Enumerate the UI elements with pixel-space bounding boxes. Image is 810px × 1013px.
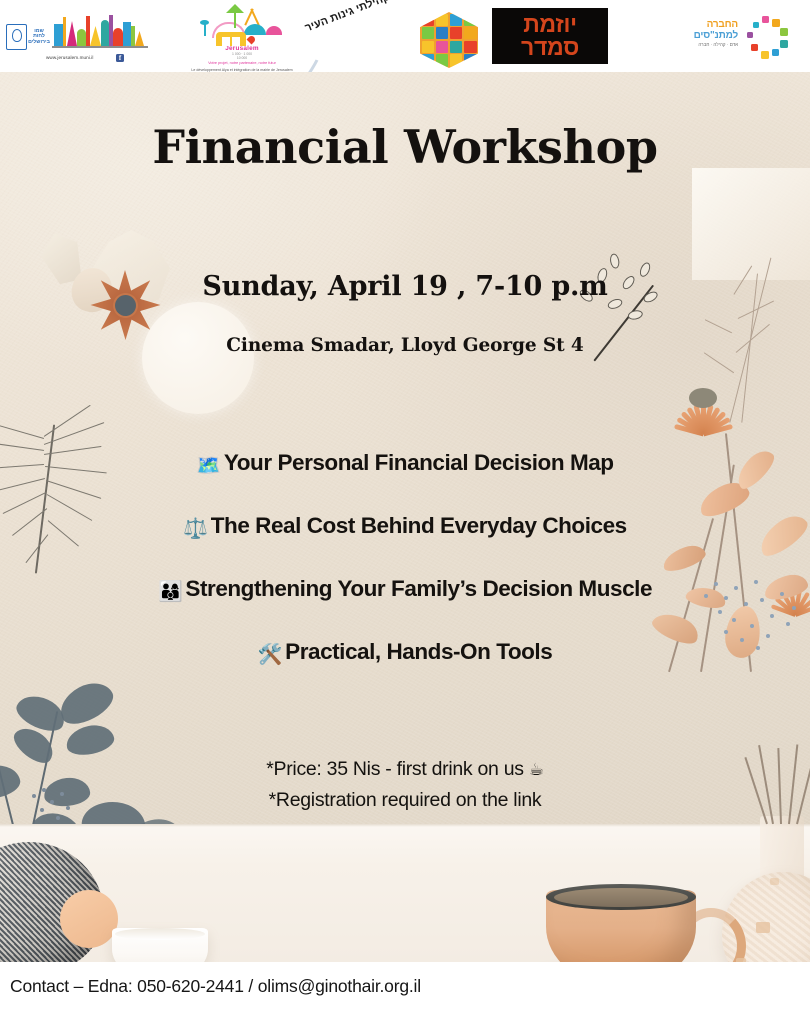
- poster-text-layer: Financial Workshop Sunday, April 19 , 7-…: [0, 72, 810, 962]
- yozmat-smadar-hebrew-label: יוזמתסמדר: [521, 13, 579, 59]
- event-poster: שמו לחותבירושלים www.jerusalem.muni.il f: [0, 0, 810, 1013]
- jerusalem-skyline-icon: [52, 17, 148, 57]
- logo-ginot-hair: מינהל קהילתי גינות העיר: [308, 8, 484, 68]
- ginot-hair-hex-icon: [420, 12, 478, 68]
- price-and-registration-notes: *Price: 35 Nis - first drink on us ☕ *Re…: [0, 754, 810, 815]
- logo-hachevra-lematnasim: החברה למתנ"סים אדם · קהילה · חברה: [660, 14, 806, 62]
- pluriel-title: Jerusalem: [186, 45, 298, 52]
- list-item: 🗺️Your Personal Financial Decision Map: [0, 450, 810, 477]
- list-item: 👨‍👩‍👦Strengthening Your Family’s Decisio…: [0, 576, 810, 603]
- logo-jerusalem-municipality: שמו לחותבירושלים www.jerusalem.muni.il f: [6, 10, 176, 64]
- matnasim-line3: אדם · קהילה · חברה: [660, 42, 738, 48]
- map-emoji: 🗺️: [196, 453, 220, 477]
- list-item-label: The Real Cost Behind Everyday Choices: [211, 513, 627, 538]
- matnasim-line2: למתנ"סים: [660, 31, 738, 42]
- contact-info: Contact – Edna: 050-620-2441 / olims@gin…: [10, 976, 421, 997]
- event-venue: Cinema Smadar, Lloyd George St 4: [0, 335, 810, 356]
- family-emoji: 👨‍👩‍👦: [158, 579, 182, 603]
- balance-scale-emoji: ⚖️: [183, 516, 207, 540]
- topic-list: 🗺️Your Personal Financial Decision Map ⚖…: [0, 450, 810, 702]
- pluriel-subtitle: Votre projet, notre partenaire, notre fu…: [186, 61, 298, 66]
- hammer-and-wrench-emoji: 🛠️: [258, 642, 282, 666]
- matnasim-ring-icon: [744, 16, 792, 60]
- list-item-label: Strengthening Your Family’s Decision Mus…: [185, 576, 652, 601]
- list-item: 🛠️Practical, Hands-On Tools: [0, 639, 810, 666]
- registration-note: *Registration required on the link: [0, 785, 810, 815]
- matnasim-line1: החברה: [660, 20, 738, 31]
- pluriel-caption: Le développement Alya et intégration de …: [186, 68, 298, 72]
- pluriel-tiny-line: 1 000 · 1 00010 000: [186, 52, 298, 60]
- list-item: ⚖️The Real Cost Behind Everyday Choices: [0, 513, 810, 540]
- municipality-url: www.jerusalem.muni.il: [46, 55, 94, 60]
- page-title: Financial Workshop: [0, 120, 810, 174]
- list-item-label: Practical, Hands-On Tools: [285, 639, 552, 664]
- logo-yozmat-smadar: יוזמתסמדר: [492, 8, 608, 64]
- contact-footer: Contact – Edna: 050-620-2441 / olims@gin…: [0, 962, 810, 1013]
- municipality-crest-icon: [6, 24, 27, 50]
- sponsor-logo-bar: שמו לחותבירושלים www.jerusalem.muni.il f: [0, 0, 810, 72]
- logo-jerusalem-pluriel: Jerusalem 1 000 · 1 00010 000 Votre proj…: [186, 4, 298, 70]
- coffee-emoji: ☕: [529, 760, 544, 780]
- price-note: *Price: 35 Nis - first drink on us ☕: [0, 754, 810, 785]
- event-datetime: Sunday, April 19 , 7-10 p.m: [0, 271, 810, 302]
- pluriel-illustration: [186, 4, 298, 46]
- municipality-hebrew-label: שמו לחותבירושלים: [28, 29, 50, 46]
- price-note-label: *Price: 35 Nis - first drink on us: [266, 758, 529, 780]
- facebook-icon: f: [116, 54, 124, 62]
- list-item-label: Your Personal Financial Decision Map: [224, 450, 614, 475]
